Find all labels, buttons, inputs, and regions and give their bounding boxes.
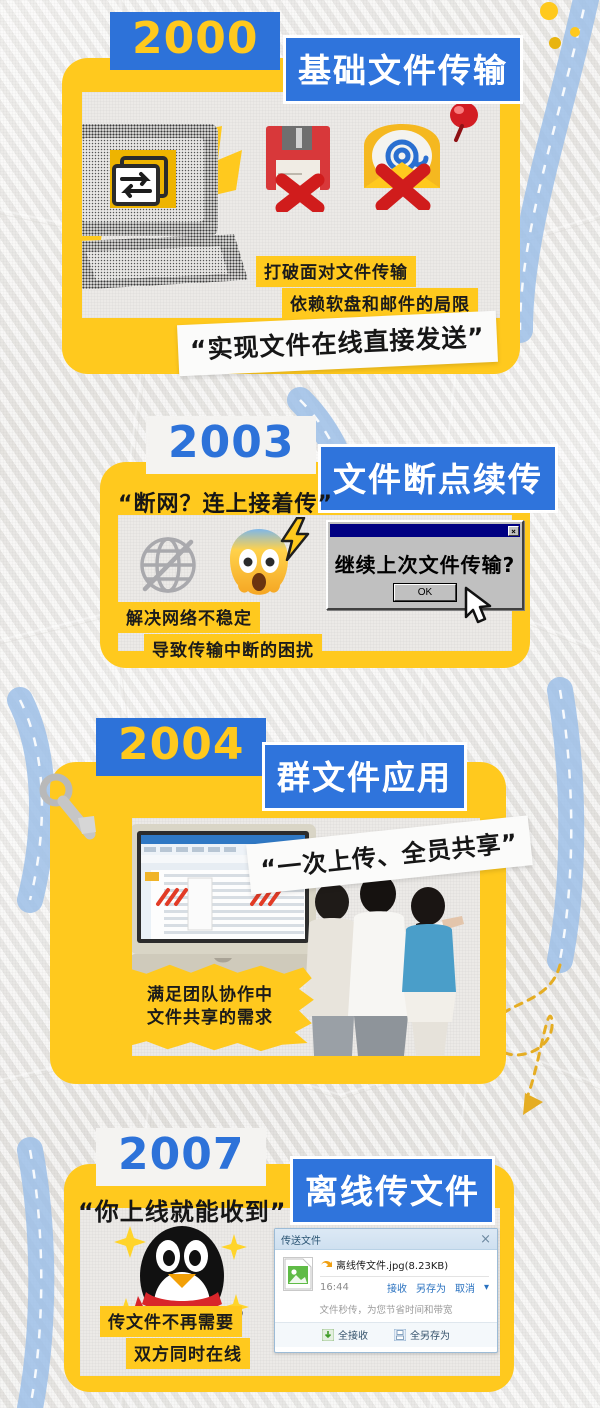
qq-file-name: 离线传文件.jpg(8.23KB) (336, 1257, 448, 1272)
burst-line-1: 满足团队协作中 (147, 984, 273, 1007)
title-chip-2003: 文件断点续传 (318, 444, 558, 513)
dialog-ok-button[interactable]: OK (394, 584, 456, 601)
dialog-message: 继续上次文件传输? (328, 539, 522, 584)
burst-caption-2004: 满足团队协作中 文件共享的需求 (104, 962, 316, 1052)
qq-action-row: 16:44 接收 另存为 取消 ▾ (320, 1280, 489, 1295)
forward-arrow-icon (320, 1259, 333, 1270)
caption-line-1: 解决网络不稳定 (118, 602, 260, 633)
qq-save-all-label: 全另存为 (410, 1327, 450, 1342)
qq-receive-all-label: 全接收 (338, 1327, 368, 1342)
title-label: 群文件应用 (277, 758, 452, 797)
quote-label: “断网？连上接着传” (118, 492, 333, 517)
divider (320, 1276, 489, 1277)
floppy-disk-icon (260, 122, 340, 212)
year-label: 2004 (118, 723, 244, 767)
qq-save-as-link[interactable]: 另存为 (416, 1280, 446, 1295)
qq-save-all-button[interactable]: 全另存为 (394, 1327, 450, 1342)
retro-computer-icon (82, 94, 262, 304)
year-label: 2000 (132, 17, 258, 61)
download-icon (322, 1329, 334, 1341)
qq-receive-link[interactable]: 接收 (387, 1280, 407, 1295)
caption-line-2: 双方同时在线 (126, 1338, 250, 1369)
caption-line-2: 导致传输中断的困扰 (144, 634, 322, 665)
qq-transfer-panel[interactable]: 传送文件 × 离线传文件.jpg(8.23KB) 16:44 接收 另存 (274, 1228, 498, 1353)
quote-banner-2003: “断网？连上接着传” (106, 480, 345, 527)
qq-cancel-link[interactable]: 取消 (455, 1280, 475, 1295)
year-label: 2003 (168, 421, 294, 465)
close-icon[interactable]: × (508, 526, 519, 536)
year-badge-2007: 2007 (96, 1128, 266, 1186)
qq-tip-text: 文件秒传，为您节省时间和带宽 (275, 1298, 497, 1322)
year-badge-2000: 2000 (110, 12, 280, 70)
save-icon (394, 1329, 406, 1341)
people-group-icon (292, 876, 472, 1056)
chevron-down-icon[interactable]: ▾ (484, 1282, 489, 1293)
quote-banner-2007: “你上线就能收到” (66, 1186, 299, 1236)
qq-receive-all-button[interactable]: 全接收 (322, 1327, 368, 1342)
title-label: 文件断点续传 (333, 460, 543, 499)
year-badge-2003: 2003 (146, 416, 316, 474)
title-chip-2004: 群文件应用 (262, 742, 467, 811)
qq-footer: 全接收 全另存为 (275, 1322, 497, 1347)
title-label: 基础文件传输 (298, 51, 508, 90)
qq-file-entry: 离线传文件.jpg(8.23KB) 16:44 接收 另存为 取消 ▾ (275, 1250, 497, 1298)
caption-group-2003: 解决网络不稳定 导致传输中断的困扰 (118, 602, 322, 665)
quote-label: “你上线就能收到” (78, 1198, 287, 1226)
caption-group-2007: 传文件不再需要 双方同时在线 (100, 1306, 250, 1369)
image-file-icon (283, 1257, 313, 1291)
caption-line-1: 传文件不再需要 (100, 1306, 242, 1337)
qq-title-bar: 传送文件 × (275, 1229, 497, 1250)
title-chip-2007: 离线传文件 (290, 1156, 495, 1225)
year-label: 2007 (118, 1133, 244, 1177)
close-icon[interactable]: × (480, 1232, 491, 1247)
email-envelope-icon (354, 118, 450, 210)
burst-line-2: 文件共享的需求 (147, 1007, 273, 1030)
no-network-globe-icon (132, 529, 204, 601)
title-chip-2000: 基础文件传输 (283, 35, 523, 104)
qq-timestamp: 16:44 (320, 1282, 349, 1293)
magnifier-icon (32, 772, 102, 846)
qq-file-row: 离线传文件.jpg(8.23KB) (320, 1257, 489, 1272)
quote-label: “实现文件在线直接发送” (189, 322, 485, 364)
caption-line-1: 打破面对文件传输 (256, 256, 416, 287)
year-badge-2004: 2004 (96, 718, 266, 776)
title-label: 离线传文件 (305, 1172, 480, 1211)
cursor-arrow-icon (462, 586, 496, 626)
caption-group-2000: 打破面对文件传输 依赖软盘和邮件的局限 (256, 256, 478, 319)
dialog-title-bar: × (330, 524, 520, 537)
